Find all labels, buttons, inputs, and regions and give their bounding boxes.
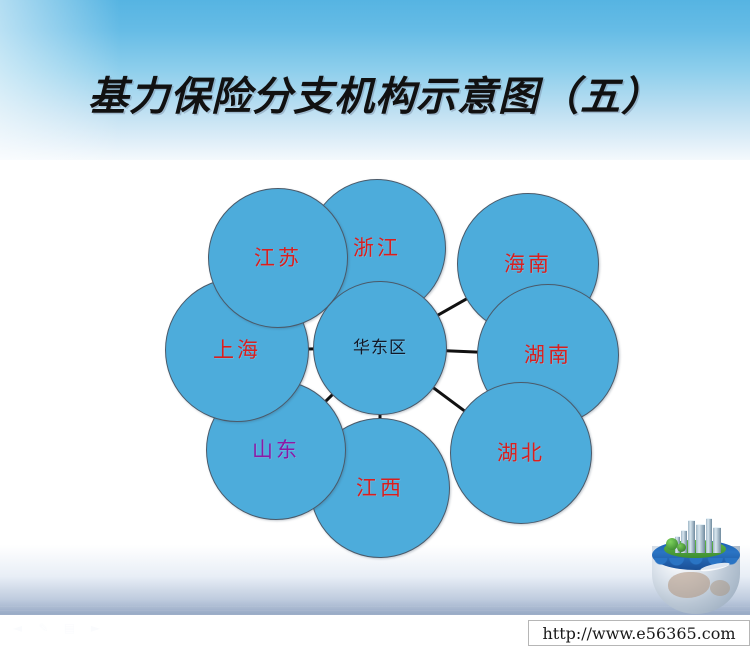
next-slide-icon[interactable]: ► — [88, 622, 103, 634]
node-jiangxi-label: 江西 — [356, 478, 404, 499]
node-jiangsu-label: 江苏 — [254, 248, 302, 269]
node-hainan-label: 海南 — [504, 254, 552, 275]
node-shanghai-label: 上海 — [213, 340, 261, 361]
building-icon-4 — [713, 527, 721, 553]
slideshow-controls[interactable]: ◄ ✎ ▤ ► — [10, 622, 103, 634]
globe-landmass-icon — [668, 572, 710, 598]
node-hunan-label: 湖南 — [524, 345, 572, 366]
slideshow-menu-icon[interactable]: ▤ — [62, 622, 77, 634]
building-icon-3 — [706, 518, 712, 553]
node-hub-east-china-label: 华东区 — [353, 340, 407, 357]
node-hubei[interactable]: 湖北 — [450, 382, 592, 524]
node-shandong-label: 山东 — [252, 440, 300, 461]
globe-city-logo — [648, 518, 744, 614]
connector-hub-to-海南 — [437, 299, 467, 316]
building-icon-1 — [688, 520, 695, 553]
node-hub-east-china[interactable]: 华东区 — [313, 281, 447, 415]
node-zhejiang-label: 浙江 — [353, 238, 401, 259]
connector-hub-to-湖北 — [433, 387, 465, 411]
node-hubei-label: 湖北 — [497, 443, 545, 464]
building-icon-2 — [696, 524, 705, 553]
watermark-url-box: http://www.e56365.com — [528, 620, 750, 646]
org-structure-diagram: 浙江海南湖南湖北江西山东上海江苏华东区 — [180, 170, 580, 530]
presentation-slide: ◄ ✎ ▤ ► 基力保险分支机构示意图（五） 浙江海南湖南湖北江西山东上海江苏华… — [0, 0, 750, 646]
pen-tool-icon[interactable]: ✎ — [36, 622, 51, 634]
tree-icon-2 — [677, 543, 686, 552]
slide-title: 基力保险分支机构示意图（五） — [0, 64, 750, 122]
prev-slide-icon[interactable]: ◄ — [10, 622, 25, 634]
connector-hub-to-湖南 — [446, 351, 478, 352]
globe-landmass-secondary-icon — [710, 580, 730, 596]
watermark-url-text: http://www.e56365.com — [542, 624, 735, 643]
